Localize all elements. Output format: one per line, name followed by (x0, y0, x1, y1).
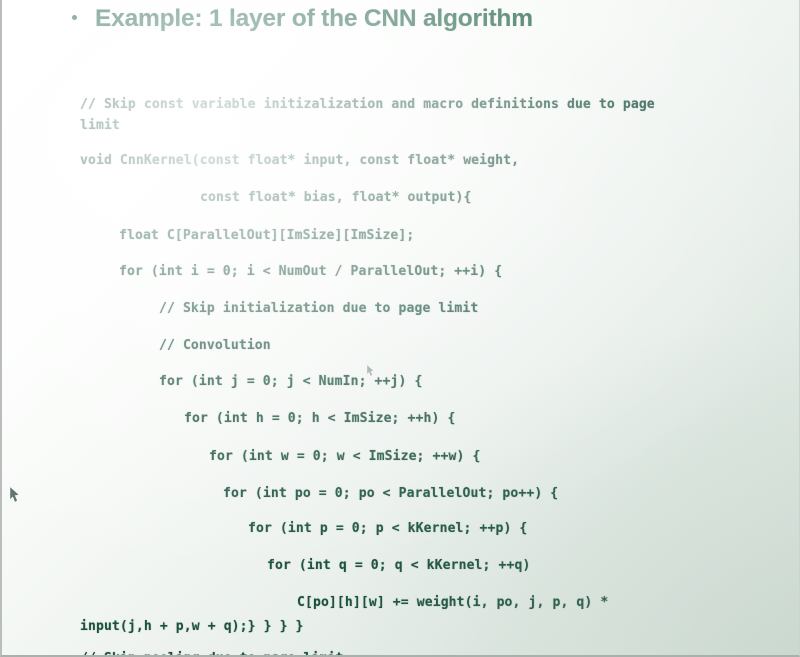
code-line: // Skip pooling due to page limit (80, 652, 343, 657)
code-line: for (int w = 0; w < ImSize; ++w) { (209, 450, 480, 463)
bullet-icon (72, 15, 77, 20)
code-line: for (int q = 0; q < kKernel; ++q) (267, 559, 530, 572)
page-title: Example: 1 layer of the CNN algorithm (95, 5, 533, 33)
cursor-arrow-icon (10, 487, 21, 502)
code-line: for (int j = 0; j < NumIn; ++j) { (159, 375, 422, 388)
code-line: for (int p = 0; p < kKernel; ++p) { (248, 522, 527, 535)
slide-canvas: Example: 1 layer of the CNN algorithm //… (0, 0, 800, 657)
code-line: const float* bias, float* output){ (200, 191, 471, 204)
code-line: void CnnKernel(const float* input, const… (80, 154, 519, 167)
code-line: // Skip const variable initizalization a… (80, 98, 655, 111)
code-line: input(j,h + p,w + q);} } } } (80, 620, 304, 633)
code-line: for (int i = 0; i < NumOut / ParallelOut… (119, 265, 502, 278)
code-line: float C[ParallelOut][ImSize][ImSize]; (119, 229, 414, 242)
slide-title-row: Example: 1 layer of the CNN algorithm (72, 5, 533, 33)
code-line: for (int po = 0; po < ParallelOut; po++)… (223, 487, 558, 500)
code-line: // Skip initialization due to page limit (159, 302, 478, 315)
code-line: limit (80, 119, 120, 132)
code-line: for (int h = 0; h < ImSize; ++h) { (184, 412, 455, 425)
code-line: C[po][h][w] += weight(i, po, j, p, q) * (297, 596, 608, 609)
code-line: // Convolution (159, 339, 271, 352)
